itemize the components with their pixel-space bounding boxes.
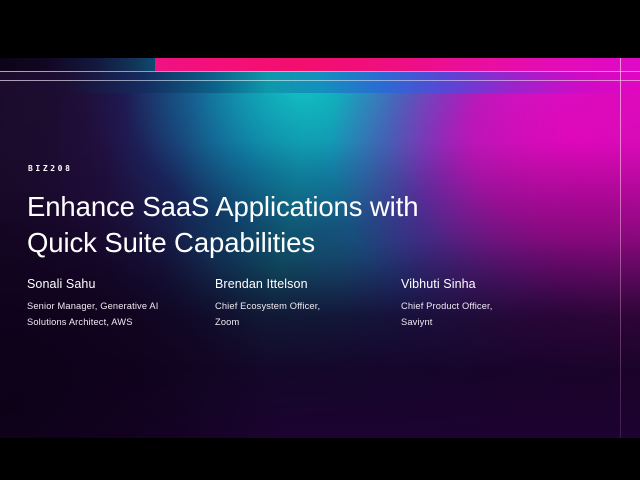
speaker-role-line-1: Senior Manager, Generative AI (27, 299, 215, 315)
speaker-role-line-2: Zoom (215, 315, 401, 331)
speaker-name: Brendan Ittelson (215, 276, 401, 293)
slide-title-line-2: Quick Suite Capabilities (27, 225, 587, 261)
speaker-role-line-1: Chief Product Officer, (401, 299, 589, 315)
speaker-role: Senior Manager, Generative AI Solutions … (27, 299, 215, 330)
slide-title: Enhance SaaS Applications with Quick Sui… (27, 189, 587, 261)
session-code: BIZ208 (28, 164, 73, 173)
video-frame: BIZ208 Enhance SaaS Applications with Qu… (0, 0, 640, 480)
presentation-slide: BIZ208 Enhance SaaS Applications with Qu… (0, 58, 640, 438)
speaker-role: Chief Product Officer, Saviynt (401, 299, 589, 330)
speaker-list: Sonali Sahu Senior Manager, Generative A… (27, 276, 627, 330)
speaker-name: Vibhuti Sinha (401, 276, 589, 293)
speaker-entry: Sonali Sahu Senior Manager, Generative A… (27, 276, 215, 330)
speaker-role-line-1: Chief Ecosystem Officer, (215, 299, 401, 315)
speaker-role-line-2: Saviynt (401, 315, 589, 331)
slide-title-line-1: Enhance SaaS Applications with (27, 189, 587, 225)
speaker-entry: Brendan Ittelson Chief Ecosystem Officer… (215, 276, 401, 330)
speaker-name: Sonali Sahu (27, 276, 215, 293)
slide-content: BIZ208 Enhance SaaS Applications with Qu… (0, 58, 640, 438)
speaker-entry: Vibhuti Sinha Chief Product Officer, Sav… (401, 276, 589, 330)
speaker-role: Chief Ecosystem Officer, Zoom (215, 299, 401, 330)
speaker-role-line-2: Solutions Architect, AWS (27, 315, 215, 331)
